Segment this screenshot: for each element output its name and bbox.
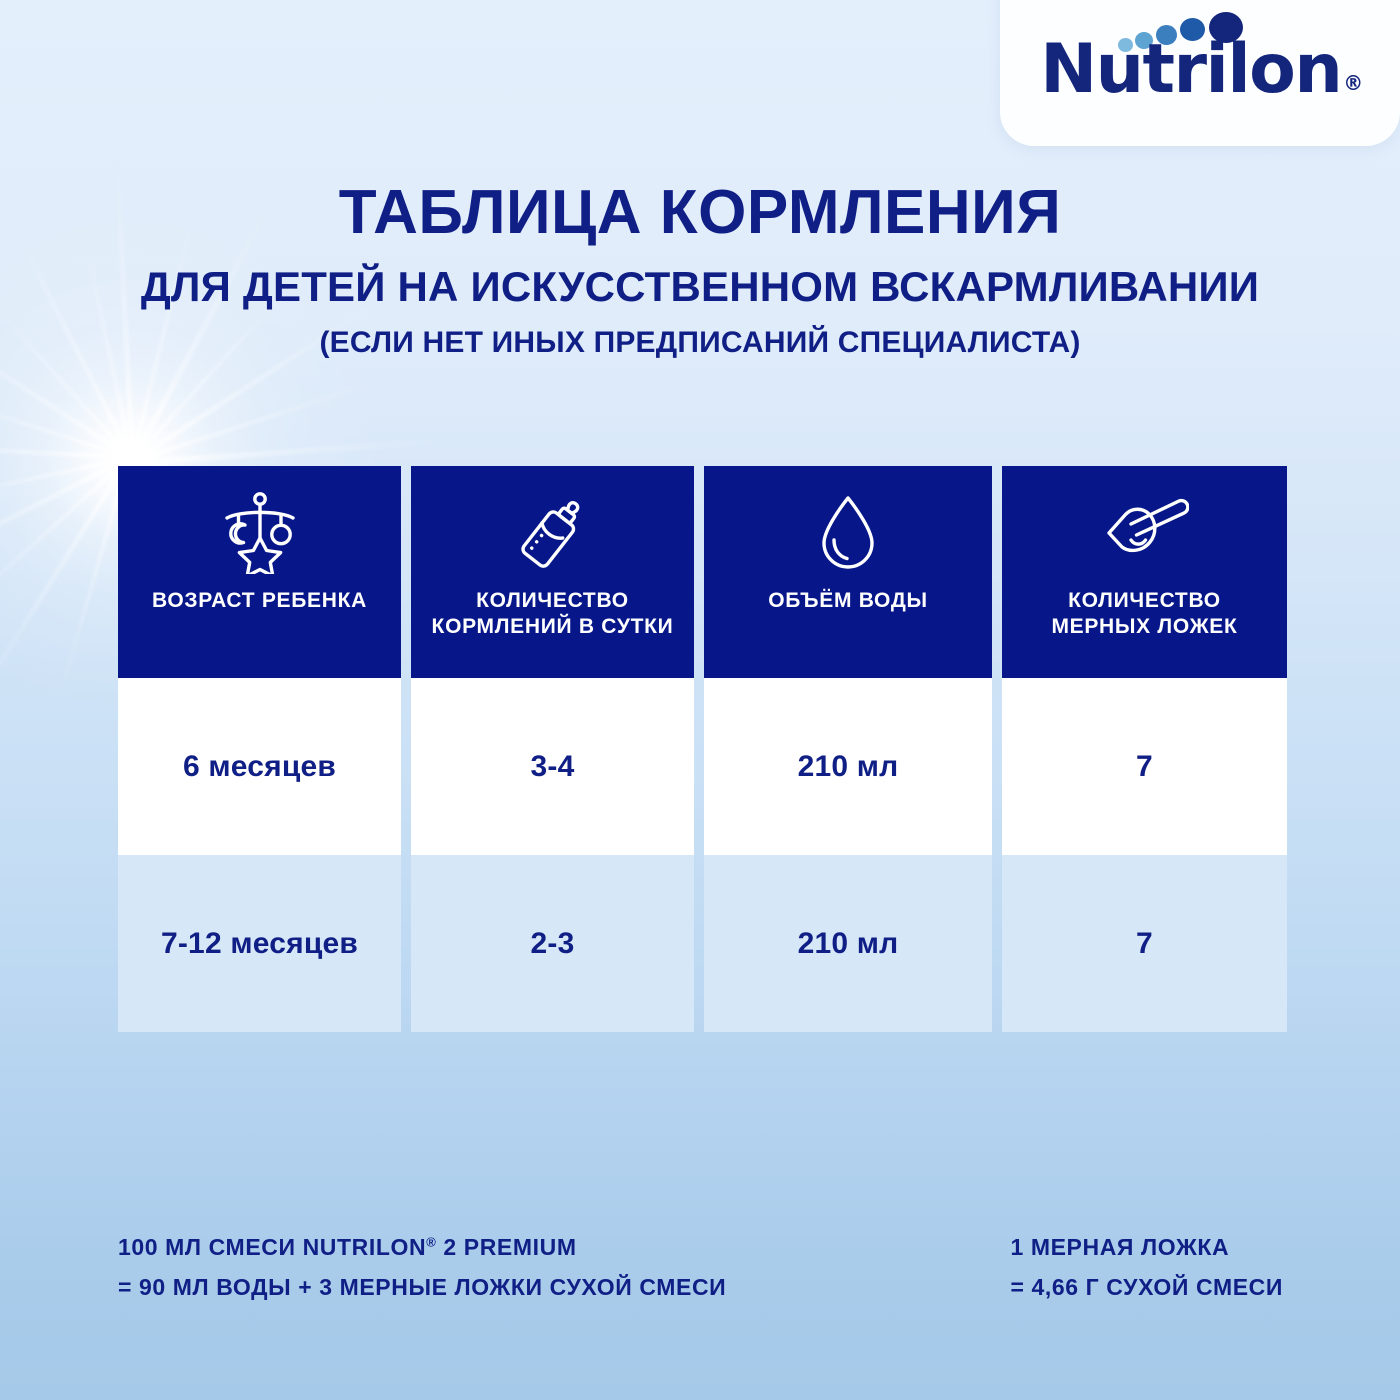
table-cell-water-row1: 210 мл bbox=[704, 678, 992, 855]
table-header-scoops: КОЛИЧЕСТВО МЕРНЫХ ЛОЖЕК bbox=[1002, 466, 1287, 678]
table-header-age: ВОЗРАСТ РЕБЕНКА bbox=[118, 466, 401, 678]
burst-ray bbox=[0, 457, 130, 689]
footer-registered-mark: ® bbox=[426, 1234, 436, 1249]
table-cell-scoops-row2: 7 bbox=[1002, 855, 1287, 1032]
table-cell-water-row2: 210 мл bbox=[704, 855, 992, 1032]
footer-left-line1-prefix: 100 МЛ СМЕСИ NUTRILON bbox=[118, 1234, 426, 1260]
footer-right-line2: = 4,66 Г СУХОЙ СМЕСИ bbox=[1010, 1268, 1283, 1308]
page-note: (ЕСЛИ НЕТ ИНЫХ ПРЕДПИСАНИЙ СПЕЦИАЛИСТА) bbox=[110, 325, 1290, 361]
table-cell-feedings-row2: 2-3 bbox=[411, 855, 694, 1032]
footer-right-note: 1 МЕРНАЯ ЛОЖКА = 4,66 Г СУХОЙ СМЕСИ bbox=[1010, 1228, 1283, 1307]
baby-bottle-icon bbox=[514, 492, 592, 574]
footer-left-line1-suffix: 2 PREMIUM bbox=[436, 1234, 576, 1260]
measuring-scoop-icon bbox=[1101, 492, 1189, 574]
brand-wordmark: Nutrilon® bbox=[1000, 36, 1400, 104]
registered-mark: ® bbox=[1343, 71, 1362, 95]
table-cell-age-row2: 7-12 месяцев bbox=[118, 855, 401, 1032]
footer-left-line2: = 90 МЛ ВОДЫ + 3 МЕРНЫЕ ЛОЖКИ СУХОЙ СМЕС… bbox=[118, 1268, 726, 1308]
footer-left-line1: 100 МЛ СМЕСИ NUTRILON® 2 PREMIUM bbox=[118, 1228, 726, 1268]
burst-ray bbox=[0, 442, 130, 460]
burst-ray bbox=[130, 438, 440, 466]
page-title: ТАБЛИЦА КОРМЛЕНИЯ bbox=[110, 180, 1290, 247]
table-header-water: ОБЪЁМ ВОДЫ bbox=[704, 466, 992, 678]
water-drop-icon bbox=[817, 492, 879, 574]
table-header-label: ВОЗРАСТ РЕБЕНКА bbox=[152, 588, 367, 614]
feeding-table: ВОЗРАСТ РЕБЕНКА 6 месяцев 7-12 месяцев bbox=[118, 466, 1285, 1032]
brand-name: Nutrilon bbox=[1040, 30, 1341, 109]
table-column-water: ОБЪЁМ ВОДЫ 210 мл 210 мл bbox=[704, 466, 992, 1032]
table-column-age: ВОЗРАСТ РЕБЕНКА 6 месяцев 7-12 месяцев bbox=[118, 466, 401, 1032]
feeding-table-poster: Nutrilon® ТАБЛИЦА КОРМЛЕНИЯ ДЛЯ ДЕТЕЙ НА… bbox=[0, 0, 1400, 1400]
burst-ray bbox=[0, 456, 130, 578]
table-column-scoops: КОЛИЧЕСТВО МЕРНЫХ ЛОЖЕК 7 7 bbox=[1002, 466, 1287, 1032]
table-header-label: КОЛИЧЕСТВО КОРМЛЕНИЙ В СУТКИ bbox=[432, 588, 674, 641]
table-column-feedings: КОЛИЧЕСТВО КОРМЛЕНИЙ В СУТКИ 3-4 2-3 bbox=[411, 466, 694, 1032]
footer-notes: 100 МЛ СМЕСИ NUTRILON® 2 PREMIUM = 90 МЛ… bbox=[118, 1228, 1288, 1307]
brand-logo-card: Nutrilon® bbox=[1000, 0, 1400, 146]
page-subtitle: ДЛЯ ДЕТЕЙ НА ИСКУССТВЕННОМ ВСКАРМЛИВАНИИ bbox=[110, 263, 1290, 311]
burst-ray bbox=[0, 393, 131, 460]
footer-left-note: 100 МЛ СМЕСИ NUTRILON® 2 PREMIUM = 90 МЛ… bbox=[118, 1228, 726, 1307]
burst-ray bbox=[0, 456, 130, 505]
burst-ray bbox=[130, 380, 379, 464]
table-header-label: ОБЪЁМ ВОДЫ bbox=[768, 588, 928, 614]
table-cell-feedings-row1: 3-4 bbox=[411, 678, 694, 855]
table-header-label: КОЛИЧЕСТВО МЕРНЫХ ЛОЖЕК bbox=[1051, 588, 1237, 641]
baby-mobile-icon bbox=[221, 492, 299, 574]
table-header-feedings: КОЛИЧЕСТВО КОРМЛЕНИЙ В СУТКИ bbox=[411, 466, 694, 678]
footer-right-line1: 1 МЕРНАЯ ЛОЖКА bbox=[1010, 1228, 1283, 1268]
brand-logo: Nutrilon® bbox=[1000, 0, 1400, 146]
table-cell-scoops-row1: 7 bbox=[1002, 678, 1287, 855]
table-cell-age-row1: 6 месяцев bbox=[118, 678, 401, 855]
page-title-block: ТАБЛИЦА КОРМЛЕНИЯ ДЛЯ ДЕТЕЙ НА ИСКУССТВЕ… bbox=[110, 180, 1290, 361]
burst-ray bbox=[0, 457, 130, 607]
